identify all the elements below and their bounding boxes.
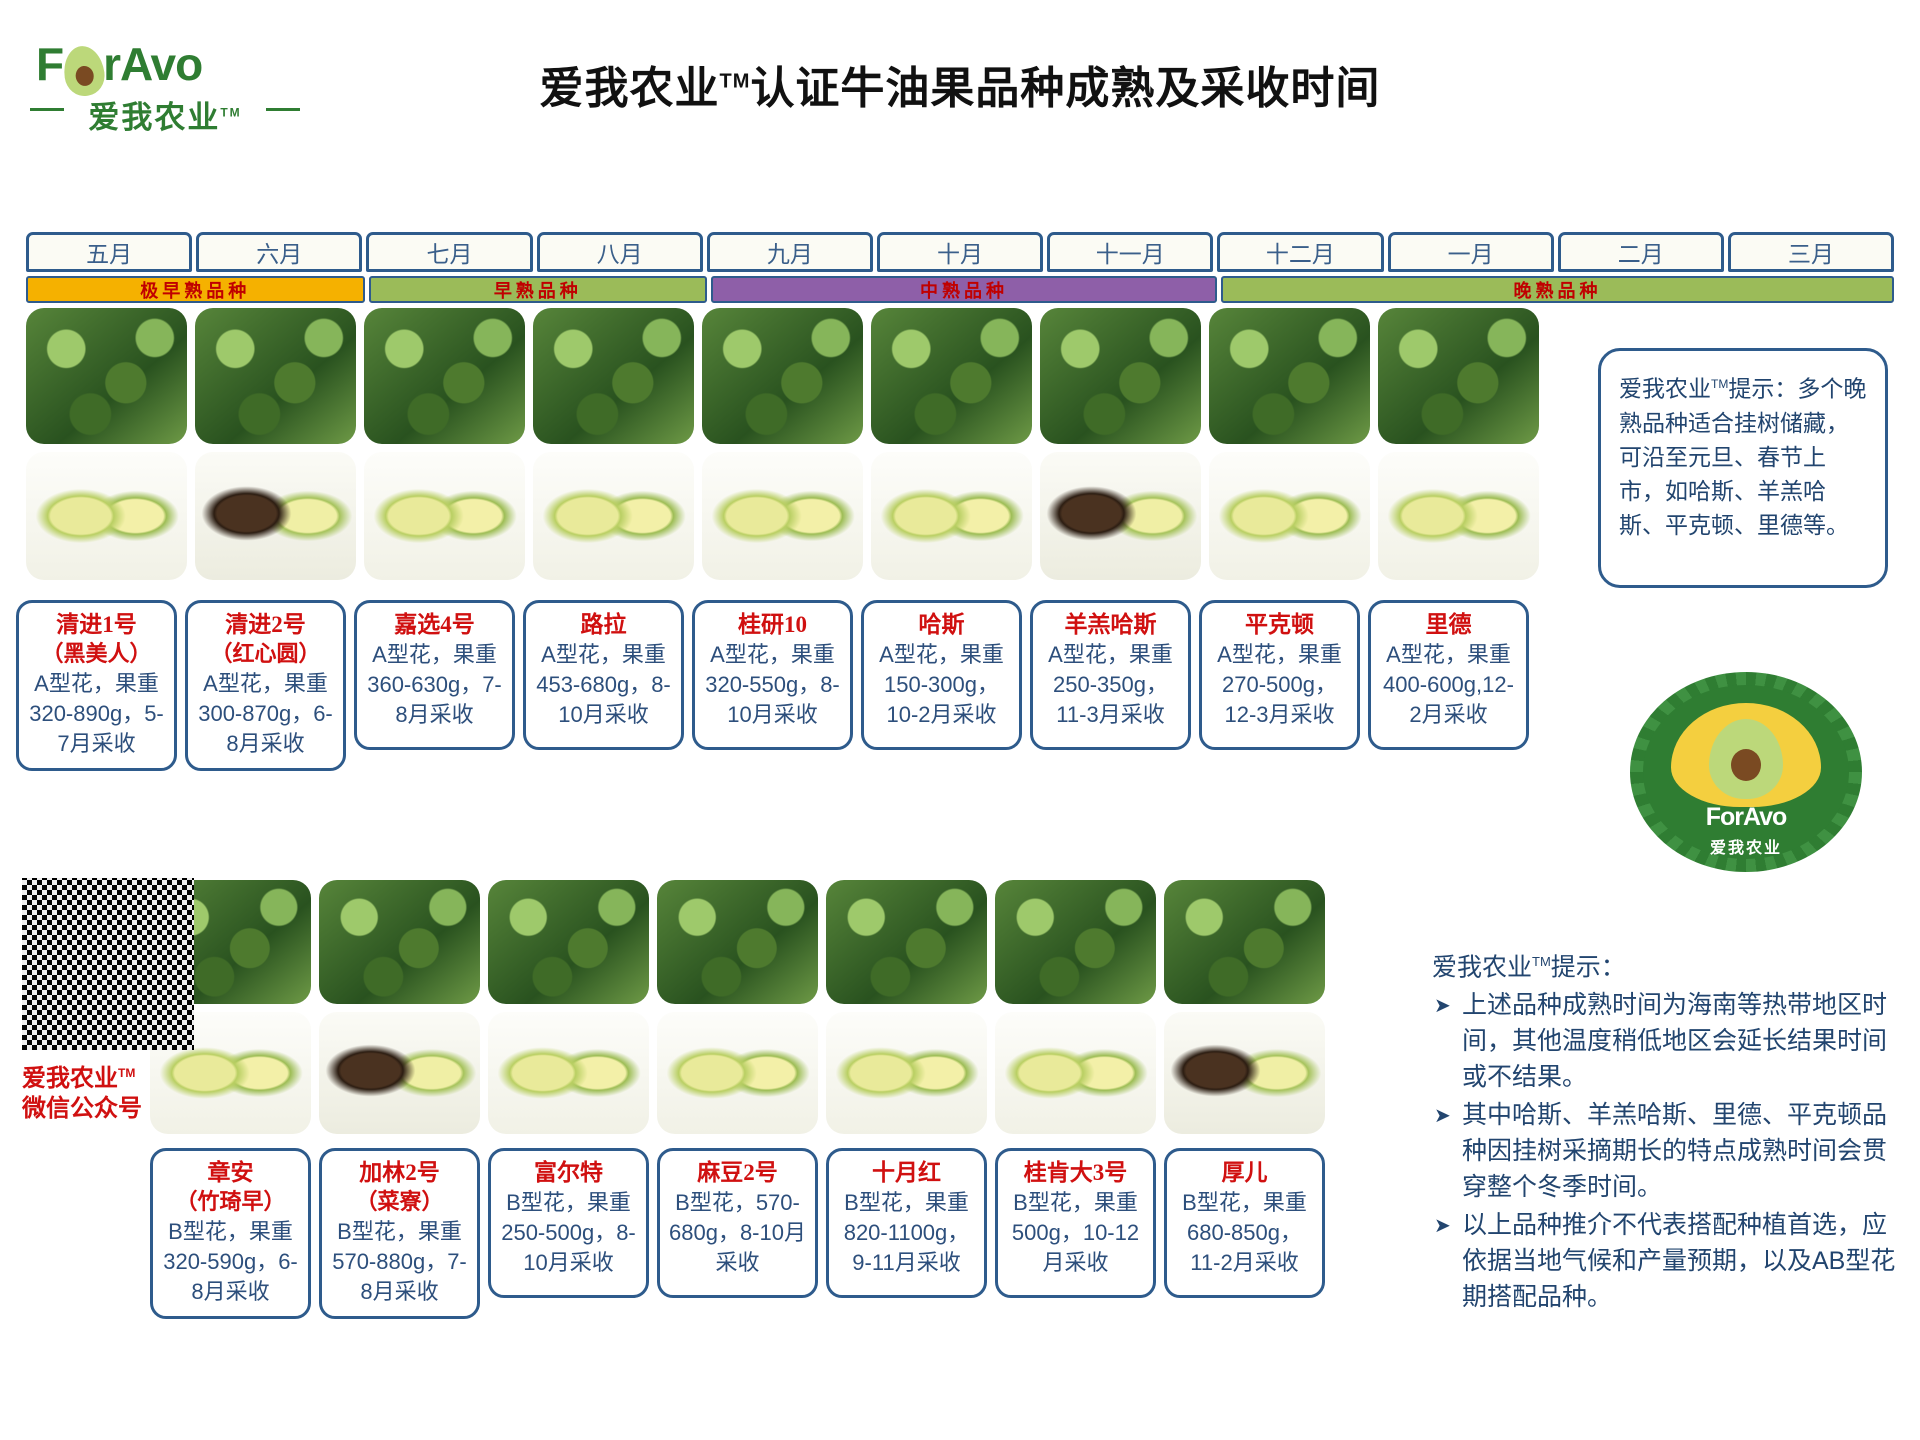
logo-tm: TM	[220, 106, 241, 120]
foravo-logo: FrAvo 爱我农业TM	[30, 38, 300, 143]
month-cell-8: 十二月	[1217, 232, 1383, 272]
wechat-qr-block[interactable]: 爱我农业TM 微信公众号	[22, 878, 202, 1124]
photo-tile	[1378, 308, 1539, 444]
variety-description: B型花，果重250-500g，8-10月采收	[497, 1188, 640, 1278]
variety-description: A型花，果重360-630g，7-8月采收	[363, 640, 506, 730]
variety-description: A型花，果重150-300g，10-2月采收	[870, 640, 1013, 730]
photo-tile	[1378, 452, 1539, 580]
photo-tile	[826, 1012, 987, 1134]
photo-tile	[995, 1012, 1156, 1134]
variety-card-row-1: 清进1号（黑美人）A型花，果重320-890g，5-7月采收清进2号（红心圆）A…	[16, 600, 1529, 771]
photo-tile	[1209, 452, 1370, 580]
variety-description: A型花，果重250-350g，11-3月采收	[1039, 640, 1182, 730]
variety-name: 厚儿	[1173, 1158, 1316, 1187]
photo-tile	[702, 308, 863, 444]
maturity-season-bar: 极早熟品种早熟品种中熟品种晚熟品种	[26, 276, 1894, 303]
photo-tile	[488, 1012, 649, 1134]
variety-description: B型花，果重820-1100g，9-11月采收	[835, 1188, 978, 1278]
photo-tile	[319, 880, 480, 1004]
month-cell-10: 二月	[1558, 232, 1724, 272]
variety-description: A型花，果重320-890g，5-7月采收	[25, 669, 168, 759]
photo-tile	[657, 1012, 818, 1134]
variety-name: 桂研10	[701, 610, 844, 639]
variety-card: 平克顿A型花，果重270-500g，12-3月采收	[1199, 600, 1360, 750]
harvest-timeline: 五月六月七月八月九月十月十一月十二月一月二月三月 极早熟品种早熟品种中熟品种晚熟…	[26, 232, 1894, 303]
season-segment-3: 中熟品种	[711, 276, 1217, 303]
variety-card: 章安（竹琦早）B型花，果重320-590g，6-8月采收	[150, 1148, 311, 1319]
photo-tile	[702, 452, 863, 580]
photo-tile	[1164, 1012, 1325, 1134]
variety-card: 桂研10A型花，果重320-550g，8-10月采收	[692, 600, 853, 750]
month-cell-11: 三月	[1728, 232, 1894, 272]
month-cell-4: 八月	[537, 232, 703, 272]
variety-description: B型花，果重570-880g，7-8月采收	[328, 1217, 471, 1307]
variety-card: 哈斯A型花，果重150-300g，10-2月采收	[861, 600, 1022, 750]
photo-row-1-trees	[26, 308, 1539, 444]
variety-card: 羊羔哈斯A型花，果重250-350g，11-3月采收	[1030, 600, 1191, 750]
tip-item: 其中哈斯、羊羔哈斯、里德、平克顿品种因挂树采摘期长的特点成熟时间会贯穿整个冬季时…	[1432, 1097, 1902, 1205]
month-cell-9: 一月	[1388, 232, 1554, 272]
variety-description: A型花，果重320-550g，8-10月采收	[701, 640, 844, 730]
variety-name: 加林2号（菜寮）	[328, 1158, 471, 1216]
photo-tile	[364, 452, 525, 580]
variety-description: A型花，果重300-870g，6-8月采收	[194, 669, 337, 759]
variety-name: 羊羔哈斯	[1039, 610, 1182, 639]
variety-description: B型花，果重680-850g，11-2月采收	[1173, 1188, 1316, 1278]
foravo-seal-badge: ForAvo 爱我农业	[1630, 672, 1862, 872]
variety-card: 清进1号（黑美人）A型花，果重320-890g，5-7月采收	[16, 600, 177, 771]
photo-tile	[195, 452, 356, 580]
photo-row-2-trees	[150, 880, 1325, 1004]
photo-tile	[871, 452, 1032, 580]
infographic-page: FrAvo 爱我农业TM 爱我农业TM认证牛油果品种成熟及采收时间 五月六月七月…	[0, 0, 1920, 1440]
month-cell-5: 九月	[707, 232, 873, 272]
variety-description: B型花，果重500g，10-12月采收	[1004, 1188, 1147, 1278]
variety-card: 清进2号（红心圆）A型花，果重300-870g，6-8月采收	[185, 600, 346, 771]
bottom-tips-block: 爱我农业TM提示： 上述品种成熟时间为海南等热带地区时间，其他温度稍低地区会延长…	[1432, 944, 1902, 1317]
month-cell-7: 十一月	[1047, 232, 1213, 272]
variety-card-row-2: 章安（竹琦早）B型花，果重320-590g，6-8月采收加林2号（菜寮）B型花，…	[150, 1148, 1325, 1319]
variety-card: 嘉选4号A型花，果重360-630g，7-8月采收	[354, 600, 515, 750]
logo-chinese-name: 爱我农业TM	[30, 92, 300, 137]
month-cell-3: 七月	[366, 232, 532, 272]
photo-tile	[826, 880, 987, 1004]
photo-tile	[319, 1012, 480, 1134]
photo-tile	[488, 880, 649, 1004]
variety-description: B型花，果重320-590g，6-8月采收	[159, 1217, 302, 1307]
photo-tile	[1040, 452, 1201, 580]
photo-tile	[995, 880, 1156, 1004]
variety-alias: （竹琦早）	[159, 1187, 302, 1216]
variety-name: 麻豆2号	[666, 1158, 809, 1187]
variety-card: 麻豆2号B型花，570-680g，8-10月采收	[657, 1148, 818, 1298]
photo-tile	[1040, 308, 1201, 444]
photo-tile	[1164, 880, 1325, 1004]
variety-name: 嘉选4号	[363, 610, 506, 639]
variety-description: A型花，果重453-680g，8-10月采收	[532, 640, 675, 730]
month-cell-6: 十月	[877, 232, 1043, 272]
bottom-tips-list: 上述品种成熟时间为海南等热带地区时间，其他温度稍低地区会延长结果时间或不结果。其…	[1432, 987, 1902, 1315]
variety-name: 里德	[1377, 610, 1520, 639]
photo-tile	[364, 308, 525, 444]
season-segment-1: 极早熟品种	[26, 276, 365, 303]
variety-alias: （红心圆）	[194, 639, 337, 668]
variety-card: 加林2号（菜寮）B型花，果重570-880g，7-8月采收	[319, 1148, 480, 1319]
variety-description: A型花，果重400-600g,12-2月采收	[1377, 640, 1520, 730]
month-cell-1: 五月	[26, 232, 192, 272]
photo-tile	[195, 308, 356, 444]
photo-tile	[533, 308, 694, 444]
variety-name: 路拉	[532, 610, 675, 639]
photo-tile	[26, 452, 187, 580]
variety-card: 厚儿B型花，果重680-850g，11-2月采收	[1164, 1148, 1325, 1298]
badge-chinese-name: 爱我农业	[1643, 834, 1849, 858]
month-cell-2: 六月	[196, 232, 362, 272]
logo-wordmark: FrAvo	[30, 38, 300, 90]
tip-item: 以上品种推介不代表搭配种植首选，应依据当地气候和产量预期，以及AB型花期搭配品种…	[1432, 1207, 1902, 1315]
variety-name: 十月红	[835, 1158, 978, 1187]
variety-alias: （黑美人）	[25, 639, 168, 668]
variety-card: 里德A型花，果重400-600g,12-2月采收	[1368, 600, 1529, 750]
variety-name: 章安（竹琦早）	[159, 1158, 302, 1216]
photo-tile	[1209, 308, 1370, 444]
photo-tile	[533, 452, 694, 580]
variety-name: 清进2号（红心圆）	[194, 610, 337, 668]
qr-caption: 爱我农业TM 微信公众号	[22, 1058, 202, 1124]
variety-card: 桂肯大3号B型花，果重500g，10-12月采收	[995, 1148, 1156, 1298]
photo-tile	[871, 308, 1032, 444]
bottom-tips-heading: 爱我农业TM提示：	[1432, 944, 1902, 985]
page-title: 爱我农业TM认证牛油果品种成熟及采收时间	[400, 52, 1520, 116]
variety-name: 哈斯	[870, 610, 1013, 639]
photo-tile	[657, 880, 818, 1004]
late-variety-tip-box: 爱我农业TM提示：多个晚熟品种适合挂树储藏，可沿至元旦、春节上市，如哈斯、羊羔哈…	[1598, 348, 1888, 588]
variety-name: 平克顿	[1208, 610, 1351, 639]
variety-card: 十月红B型花，果重820-1100g，9-11月采收	[826, 1148, 987, 1298]
variety-name: 清进1号（黑美人）	[25, 610, 168, 668]
tip-item: 上述品种成熟时间为海南等热带地区时间，其他温度稍低地区会延长结果时间或不结果。	[1432, 987, 1902, 1095]
variety-card: 富尔特B型花，果重250-500g，8-10月采收	[488, 1148, 649, 1298]
month-header-row: 五月六月七月八月九月十月十一月十二月一月二月三月	[26, 232, 1894, 272]
photo-tile	[26, 308, 187, 444]
qr-code-image[interactable]	[22, 878, 194, 1050]
season-segment-2: 早熟品种	[369, 276, 708, 303]
logo-letter-f: F	[36, 38, 63, 90]
variety-name: 桂肯大3号	[1004, 1158, 1147, 1187]
variety-description: B型花，570-680g，8-10月采收	[666, 1188, 809, 1278]
logo-letters-ravo: rAvo	[103, 38, 202, 90]
variety-description: A型花，果重270-500g，12-3月采收	[1208, 640, 1351, 730]
photo-row-1-fruit	[26, 452, 1539, 580]
variety-card: 路拉A型花，果重453-680g，8-10月采收	[523, 600, 684, 750]
photo-row-2-fruit	[150, 1012, 1325, 1134]
variety-name: 富尔特	[497, 1158, 640, 1187]
badge-wordmark: ForAvo	[1643, 803, 1849, 832]
variety-alias: （菜寮）	[328, 1187, 471, 1216]
season-segment-4: 晚熟品种	[1221, 276, 1894, 303]
